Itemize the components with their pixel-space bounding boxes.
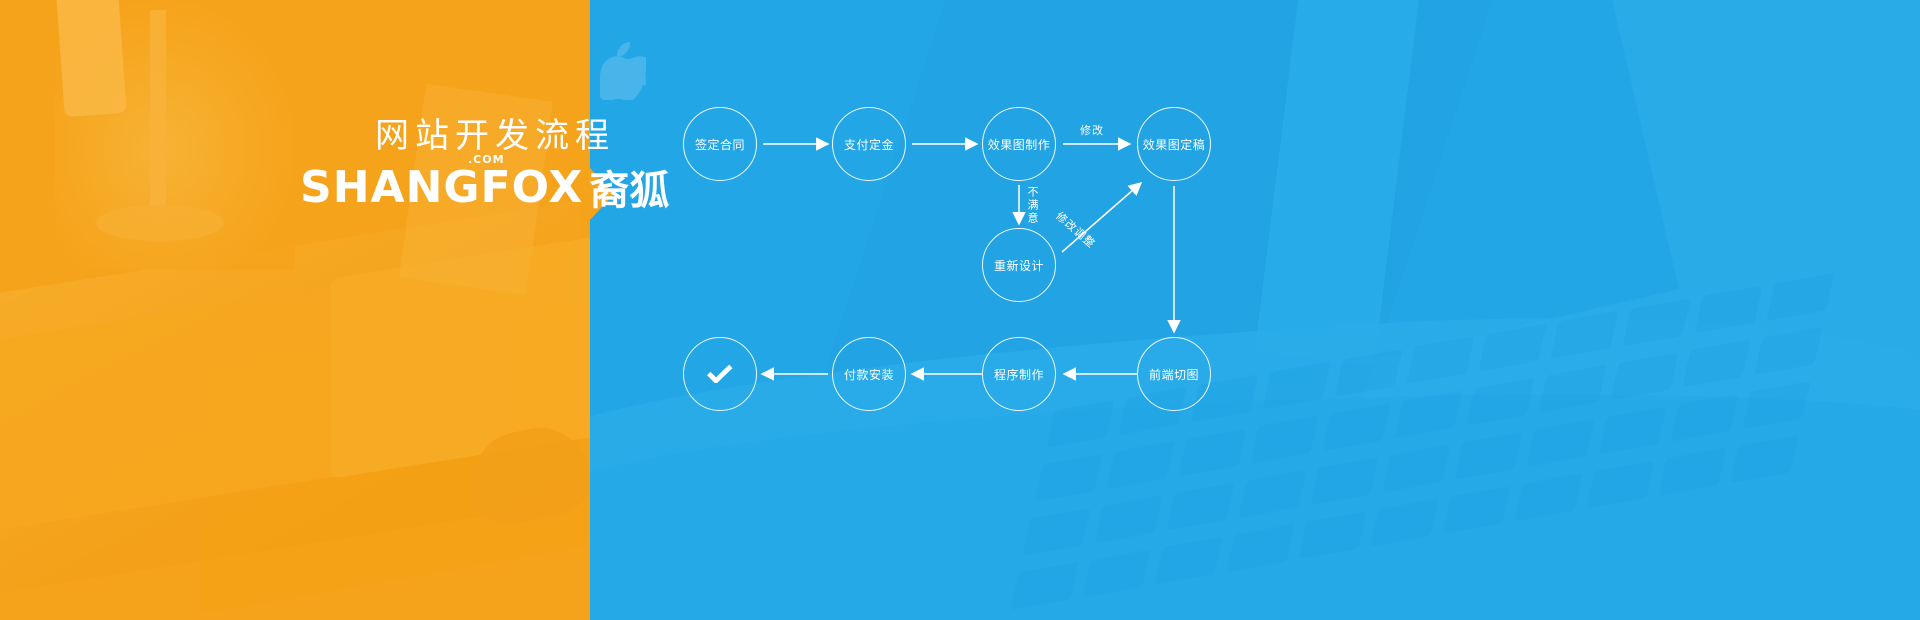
flow-node-label: 程序制作 [994,366,1044,383]
flow-node-label: 重新设计 [994,257,1044,274]
flow-node-payment-install[interactable]: 付款安装 [832,337,906,411]
flow-node-mockup-design[interactable]: 效果图制作 [982,107,1056,181]
check-icon [705,365,735,383]
workflow-diagram: 签定合同 支付定金 效果图制作 效果图定稿 重新设计 前端切图 程序制作 付款安… [0,0,1920,620]
flow-node-pay-deposit[interactable]: 支付定金 [832,107,906,181]
flow-connectors [0,0,1920,620]
flow-node-program-development[interactable]: 程序制作 [982,337,1056,411]
flow-node-label: 效果图制作 [988,136,1051,153]
banner-canvas: 网站开发流程 SHANGFOX .COM 裔狐 [0,0,1920,620]
flow-node-complete[interactable] [683,337,757,411]
flow-node-sign-contract[interactable]: 签定合同 [683,107,757,181]
flow-node-label: 效果图定稿 [1143,136,1206,153]
flow-node-label: 签定合同 [695,136,745,153]
flow-node-label: 前端切图 [1149,366,1199,383]
flow-node-label: 支付定金 [844,136,894,153]
edge-label-modify: 修改 [1080,122,1104,138]
flow-node-frontend-slicing[interactable]: 前端切图 [1137,337,1211,411]
flow-node-redesign[interactable]: 重新设计 [982,228,1056,302]
flow-node-label: 付款安装 [844,366,894,383]
edge-label-unsatisfied: 不满意 [1024,186,1040,225]
flow-node-mockup-final[interactable]: 效果图定稿 [1137,107,1211,181]
